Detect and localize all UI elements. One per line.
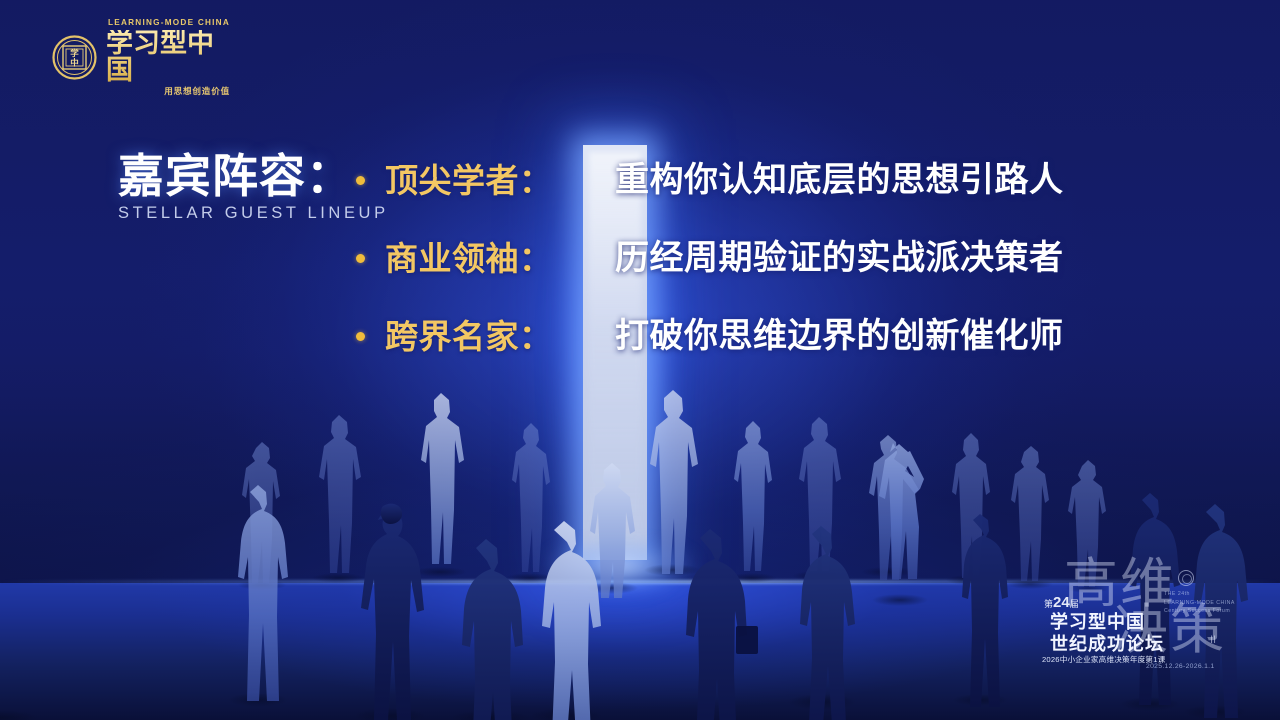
- page-title-english: STELLAR GUEST LINEUP: [118, 204, 368, 223]
- lineup-label: 跨界名家：: [385, 320, 615, 353]
- forum-date: 2025.12.26-2026.1.1: [1146, 663, 1214, 670]
- lineup-list: 顶尖学者： 重构你认知底层的思想引路人 商业领袖： 历经周期验证的实战派决策者 …: [356, 155, 1176, 361]
- brand-english: LEARNING-MODE CHINA: [106, 19, 230, 27]
- forum-seal-icon: [1178, 570, 1194, 586]
- brand-tagline: 用思想创造价值: [106, 87, 230, 96]
- bullet-dot-icon: [356, 176, 365, 185]
- lineup-label: 商业领袖：: [385, 242, 615, 275]
- bullet-dot-icon: [356, 332, 365, 341]
- svg-text:中: 中: [70, 57, 79, 68]
- list-item: 商业领袖： 历经周期验证的实战派决策者: [356, 233, 1176, 283]
- forum-lockup: 高维 决策 II 第24届 学习型中国 世纪成功论坛 2026中小企业家高维决策…: [1028, 556, 1260, 674]
- list-item: 顶尖学者： 重构你认知底层的思想引路人: [356, 155, 1176, 205]
- forum-english: THE 24thLEARNING-MODE CHINACentury Succe…: [1164, 590, 1235, 616]
- forum-superscript: II: [1210, 634, 1216, 646]
- slide-canvas: 学 中 LEARNING-MODE CHINA 学习型中国 用思想创造价值 嘉宾…: [0, 0, 1280, 720]
- svg-text:学: 学: [70, 48, 79, 59]
- bullet-dot-icon: [356, 254, 365, 263]
- lineup-description: 重构你认知底层的思想引路人: [615, 163, 1064, 197]
- seal-emblem-icon: 学 中: [52, 35, 97, 80]
- lineup-label: 顶尖学者：: [385, 164, 615, 197]
- lineup-description: 历经周期验证的实战派决策者: [615, 241, 1064, 275]
- brand-logo: 学 中 LEARNING-MODE CHINA 学习型中国 用思想创造价值: [52, 26, 230, 88]
- page-title-chinese: 嘉宾阵容：: [118, 152, 368, 200]
- list-item: 跨界名家： 打破你思维边界的创新催化师: [356, 311, 1176, 361]
- page-title: 嘉宾阵容： STELLAR GUEST LINEUP: [118, 152, 368, 223]
- lineup-description: 打破你思维边界的创新催化师: [615, 319, 1064, 353]
- forum-title-line2: 世纪成功论坛: [1050, 630, 1164, 656]
- brand-chinese: 学习型中国: [106, 30, 230, 84]
